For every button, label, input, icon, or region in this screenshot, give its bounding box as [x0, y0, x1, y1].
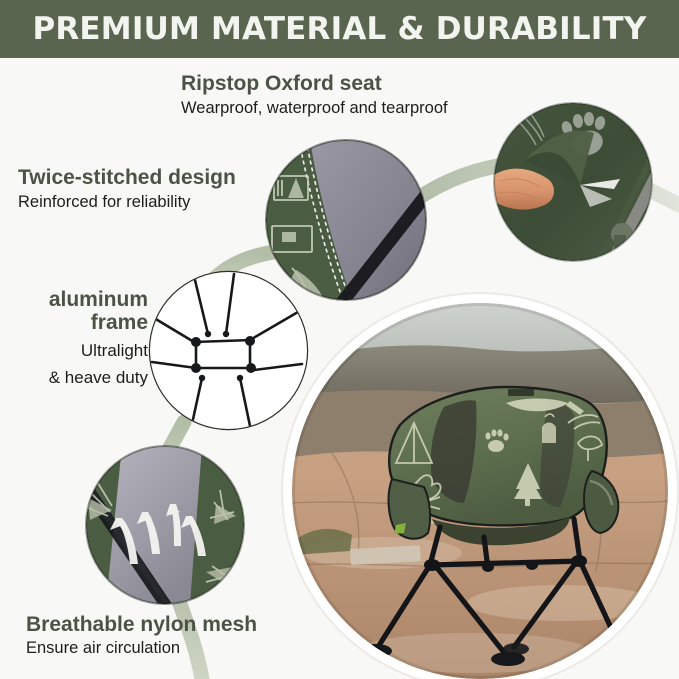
detail-circle-tear: [494, 103, 652, 261]
callout-frame-subtitle-line2: & heave duty: [8, 367, 148, 388]
infographic-root: PREMIUM MATERIAL & DURABILITY Ripstop Ox…: [0, 0, 679, 679]
detail-circle-frame: [150, 272, 307, 429]
page-title: PREMIUM MATERIAL & DURABILITY: [32, 11, 646, 47]
callout-ripstop: Ripstop Oxford seat Wearproof, waterproo…: [181, 72, 541, 119]
callout-frame-title-line2: frame: [8, 311, 148, 334]
callout-mesh-subtitle: Ensure air circulation: [26, 638, 326, 659]
hero-product-photo: [292, 303, 668, 679]
callout-ripstop-subtitle: Wearproof, waterproof and tearproof: [181, 98, 541, 119]
callout-frame: aluminum frame Ultralight & heave duty: [8, 288, 148, 389]
header-bar: PREMIUM MATERIAL & DURABILITY: [0, 0, 679, 58]
callout-stitch-subtitle: Reinforced for reliability: [18, 192, 278, 213]
callout-mesh: Breathable nylon mesh Ensure air circula…: [26, 613, 326, 659]
detail-circle-mesh: [86, 446, 244, 604]
callout-frame-title-line1: aluminum: [8, 288, 148, 311]
callout-stitch: Twice-stitched design Reinforced for rel…: [18, 166, 278, 213]
callout-ripstop-title: Ripstop Oxford seat: [181, 72, 541, 95]
callout-mesh-title: Breathable nylon mesh: [26, 613, 326, 636]
callout-stitch-title: Twice-stitched design: [18, 166, 278, 189]
callout-frame-subtitle-line1: Ultralight: [8, 340, 148, 361]
